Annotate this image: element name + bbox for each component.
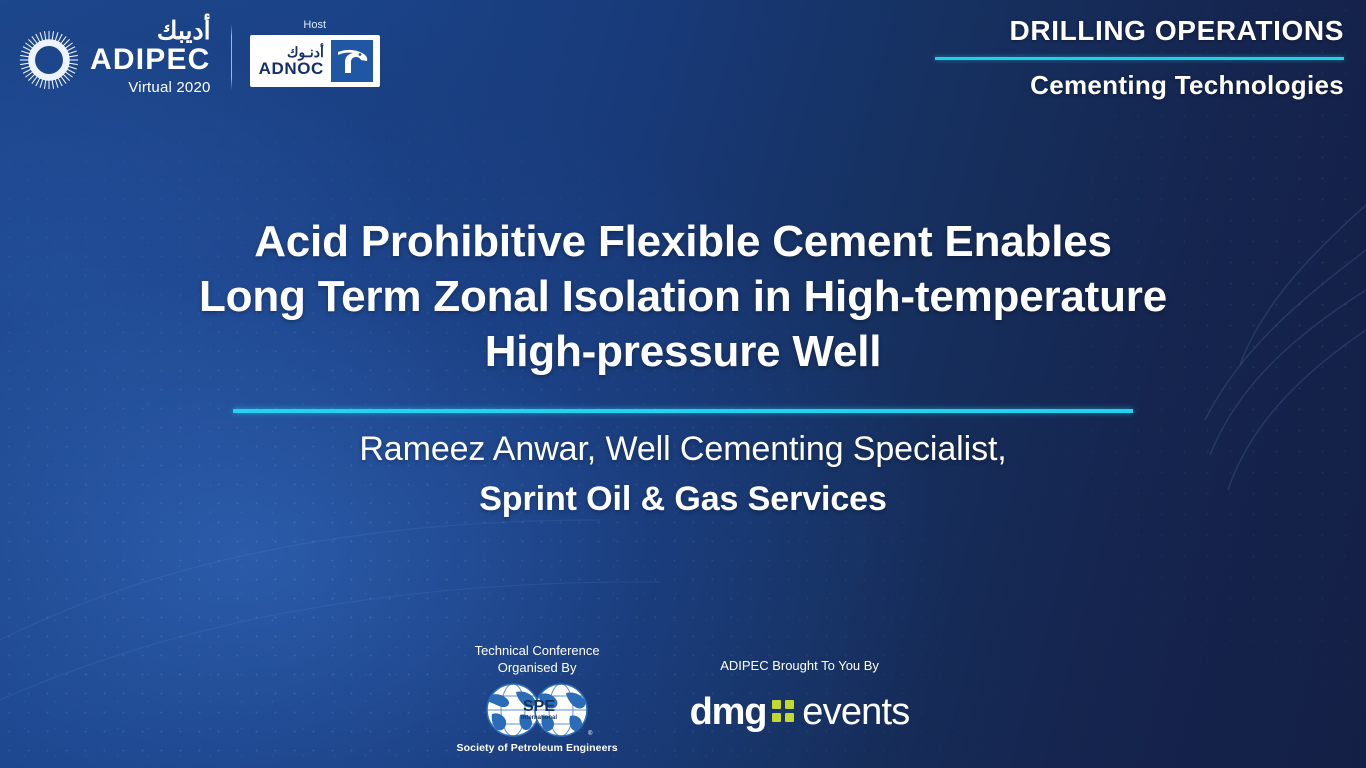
spe-globes-icon: SPE International ® — [480, 682, 594, 739]
adipec-subtitle: Virtual 2020 — [128, 78, 210, 98]
spe-logo-sub: International — [521, 715, 557, 721]
page-title: Acid Prohibitive Flexible Cement Enables… — [0, 214, 1366, 379]
adipec-arabic-name: أديبك — [157, 18, 211, 44]
dmg-events-logo: dmg events — [690, 692, 910, 732]
adipec-name: ADIPEC — [90, 44, 211, 75]
dmg-dots-icon — [772, 700, 794, 722]
session-header: DRILLING OPERATIONS Cementing Technologi… — [935, 14, 1344, 101]
organiser-caption-line-1: Technical Conference — [475, 642, 600, 659]
slide-footer: Technical Conference Organised By — [0, 642, 1366, 754]
sponsor-caption: ADIPEC Brought To You By — [720, 657, 879, 674]
speaker-block: Rameez Anwar, Well Cementing Specialist,… — [0, 427, 1366, 521]
speaker-organisation: Sprint Oil & Gas Services — [0, 477, 1366, 521]
adnoc-arabic-name: أدنـوك — [287, 45, 324, 60]
session-title: Cementing Technologies — [935, 69, 1344, 101]
dmg-events-wordmark: events — [802, 692, 909, 732]
falcon-icon — [331, 40, 373, 82]
adnoc-name: ADNOC — [259, 60, 324, 78]
header-accent-rule — [935, 57, 1344, 60]
host-block: Host أدنـوك ADNOC — [250, 18, 380, 87]
speaker-name-role: Rameez Anwar, Well Cementing Specialist, — [0, 427, 1366, 471]
svg-text:®: ® — [588, 730, 593, 737]
organiser-caption-line-2: Organised By — [498, 659, 577, 676]
title-line-3: High-pressure Well — [70, 324, 1296, 379]
presentation-slide: أديبك ADIPEC Virtual 2020 Host أدنـوك AD… — [0, 0, 1366, 768]
dmg-wordmark: dmg — [690, 692, 767, 732]
sponsor-block: ADIPEC Brought To You By dmg events — [690, 657, 910, 754]
organiser-block: Technical Conference Organised By — [457, 642, 618, 754]
brand-divider — [231, 24, 232, 90]
spe-logo: SPE International ® Society of Petroleum… — [457, 682, 618, 754]
spe-logo-caption: Society of Petroleum Engineers — [457, 742, 618, 754]
brand-lockup: أديبك ADIPEC Virtual 2020 Host أدنـوك AD… — [18, 18, 380, 98]
title-line-2: Long Term Zonal Isolation in High-temper… — [70, 269, 1296, 324]
title-divider — [233, 409, 1133, 413]
spe-logo-text: SPE — [523, 698, 555, 715]
title-line-1: Acid Prohibitive Flexible Cement Enables — [70, 214, 1296, 269]
sunburst-icon — [18, 29, 80, 91]
adipec-logo: أديبك ADIPEC Virtual 2020 — [18, 18, 211, 98]
host-label: Host — [303, 18, 326, 32]
track-title: DRILLING OPERATIONS — [935, 14, 1344, 48]
adnoc-logo: أدنـوك ADNOC — [250, 35, 380, 87]
